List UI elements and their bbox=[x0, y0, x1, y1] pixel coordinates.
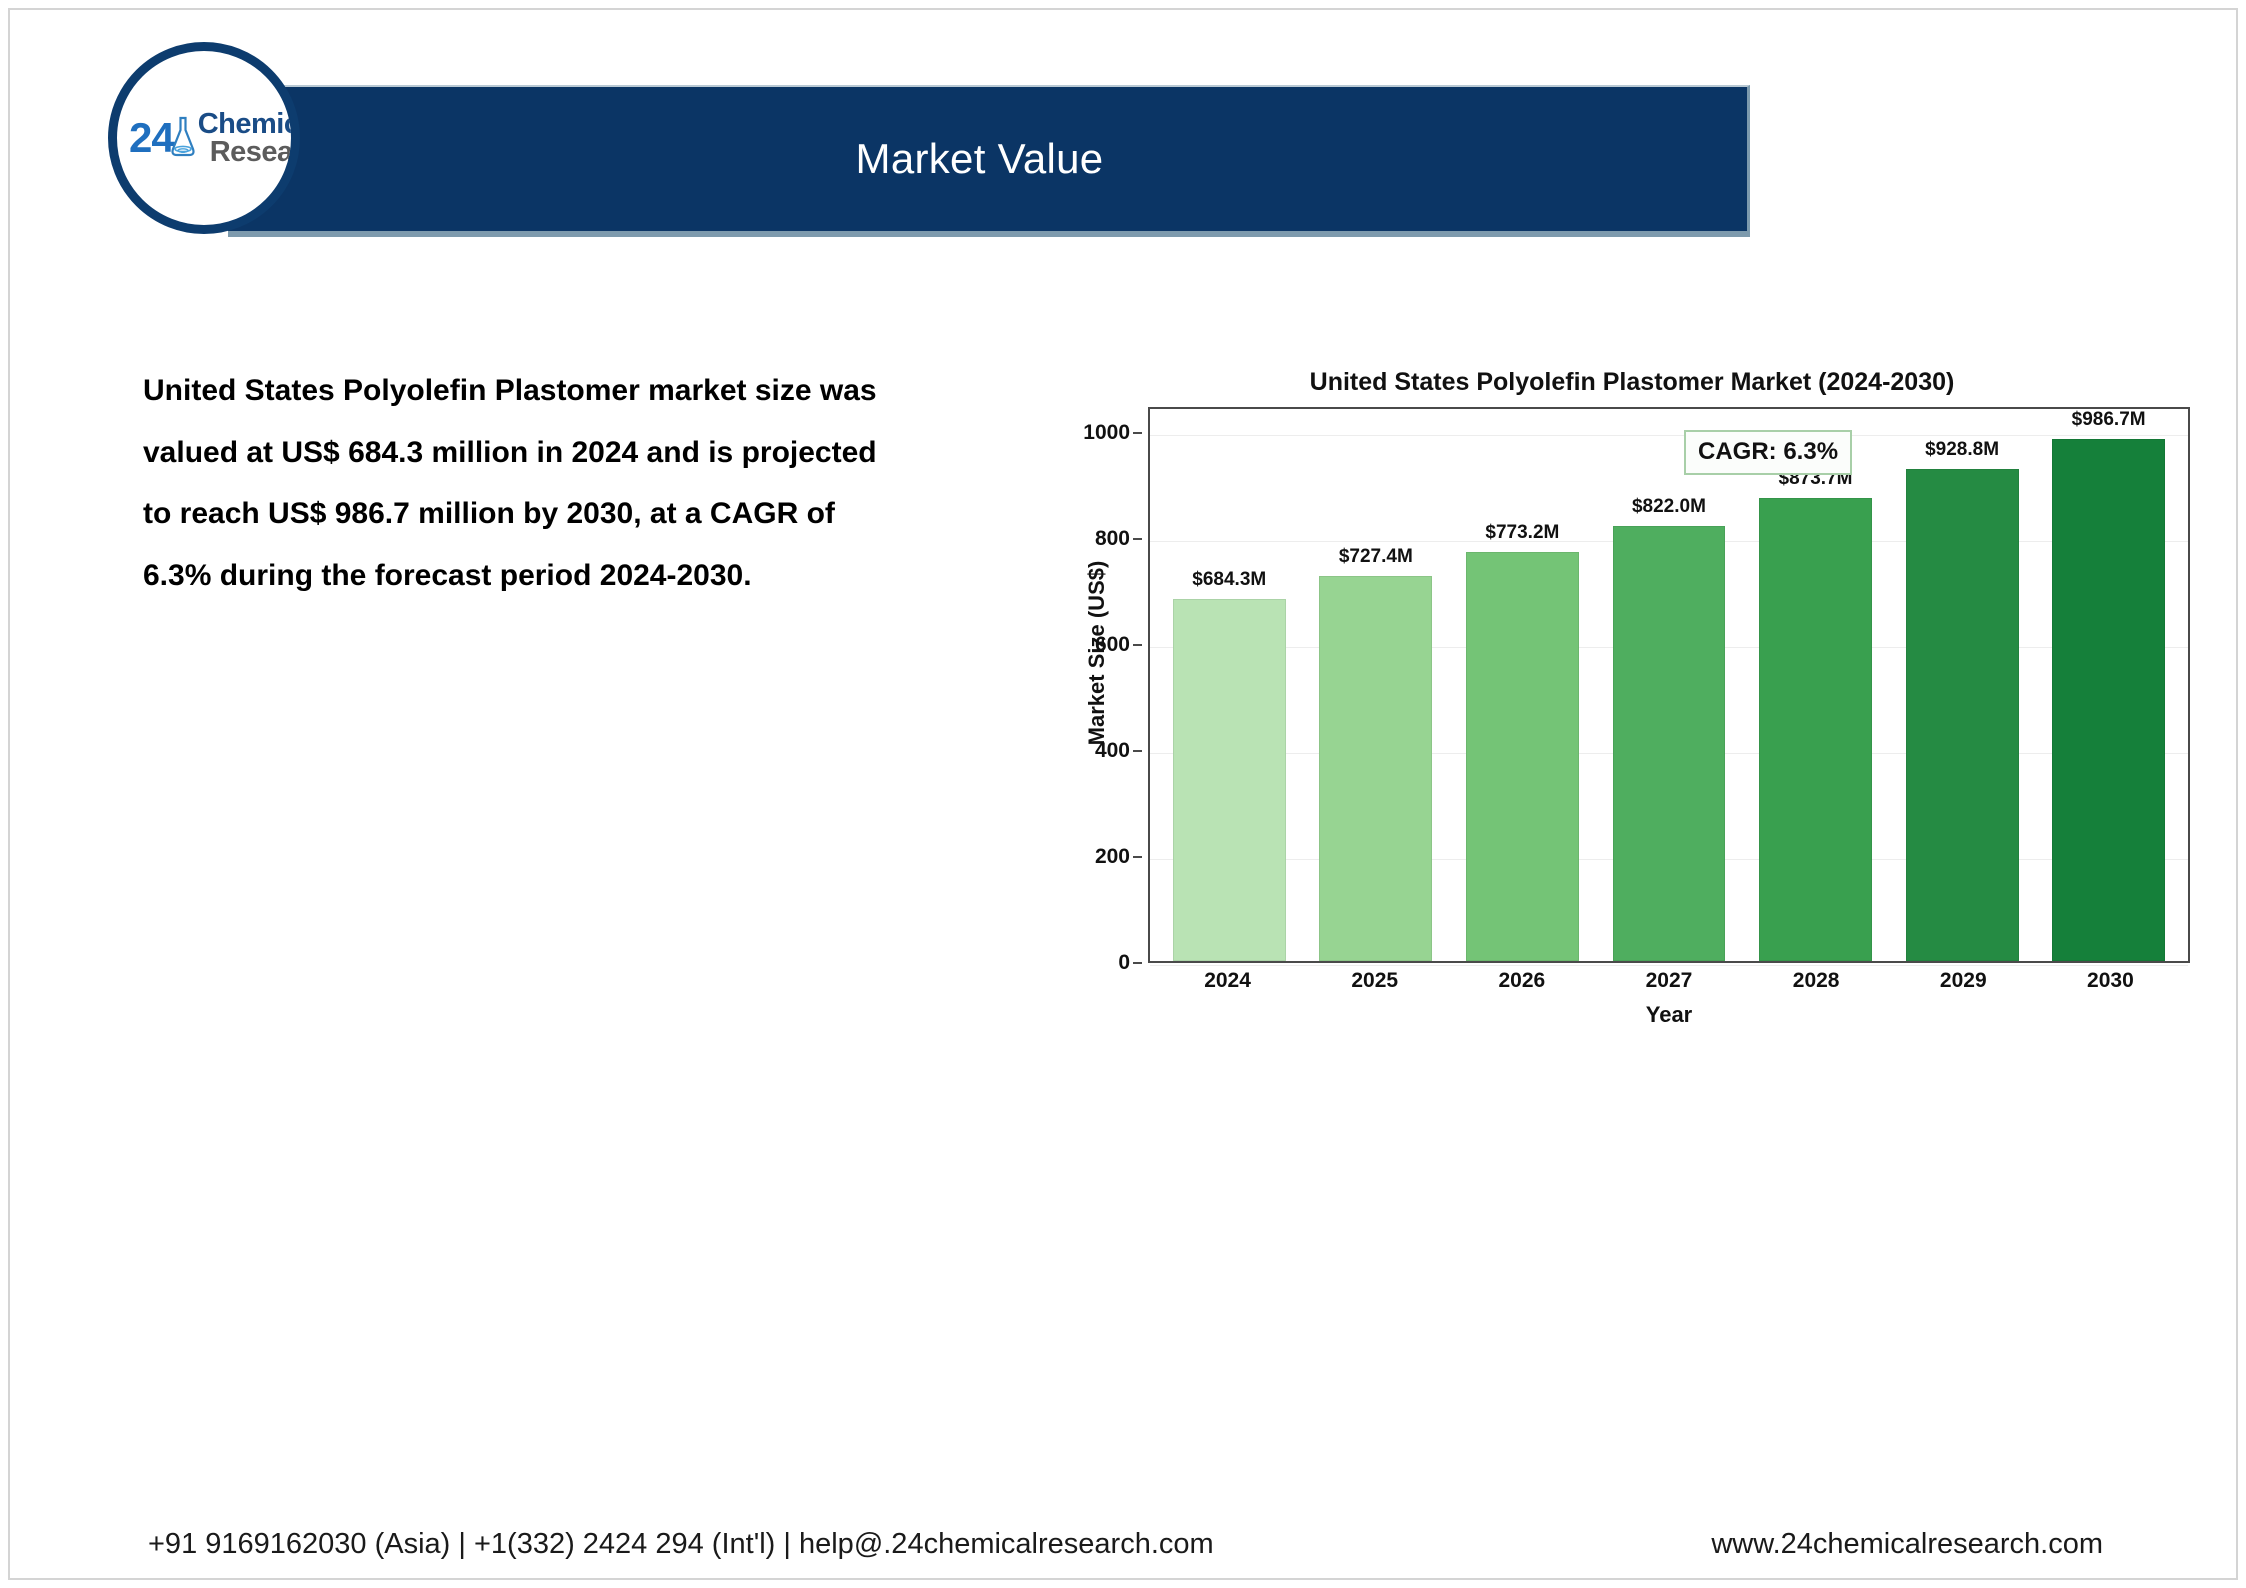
y-axis-tick-mark bbox=[1133, 644, 1142, 646]
brand-logo: 24 Chemical Research bbox=[108, 42, 300, 234]
bar-rect[interactable] bbox=[2052, 439, 2165, 961]
x-axis-tick-label: 2026 bbox=[1465, 969, 1578, 1003]
bar-rect[interactable] bbox=[1759, 498, 1872, 961]
chart-title: United States Polyolefin Plastomer Marke… bbox=[1062, 368, 2202, 397]
logo-number: 24 bbox=[129, 117, 174, 159]
x-axis-tick-label: 2024 bbox=[1171, 969, 1284, 1003]
x-axis-ticks: 2024202520262027202820292030 bbox=[1148, 969, 2190, 1003]
bar-rect[interactable] bbox=[1906, 469, 2019, 961]
bar-item[interactable]: $727.4M bbox=[1319, 409, 1432, 961]
bar-value-label: $928.8M bbox=[1862, 439, 2062, 461]
footer-website: www.24chemicalresearch.com bbox=[1711, 1528, 2103, 1561]
market-summary-text: United States Polyolefin Plastomer marke… bbox=[143, 360, 903, 606]
bar-rect[interactable] bbox=[1466, 552, 1579, 961]
x-axis-tick-label: 2029 bbox=[1907, 969, 2020, 1003]
y-axis-tick-mark bbox=[1133, 962, 1142, 964]
bar-value-label: $727.4M bbox=[1276, 546, 1476, 568]
page-title: Market Value bbox=[856, 135, 1104, 183]
logo-wordmark: Chemical Research bbox=[198, 110, 300, 167]
cagr-annotation: CAGR: 6.3% bbox=[1684, 430, 1852, 475]
bar-value-label: $986.7M bbox=[2009, 409, 2209, 431]
logo-inner: 24 Chemical Research bbox=[117, 110, 291, 167]
y-axis-tick-mark bbox=[1133, 432, 1142, 434]
bar-item[interactable]: $873.7M bbox=[1759, 409, 1872, 961]
bar-rect[interactable] bbox=[1613, 526, 1726, 961]
y-axis-tick-mark bbox=[1133, 750, 1142, 752]
bar-item[interactable]: $986.7M bbox=[2052, 409, 2165, 961]
y-axis-tick-mark bbox=[1133, 538, 1142, 540]
y-axis-tick-label: 0 bbox=[1118, 951, 1130, 975]
bar-rect[interactable] bbox=[1319, 576, 1432, 961]
bar-item[interactable]: $822.0M bbox=[1613, 409, 1726, 961]
plot-area: $684.3M$727.4M$773.2M$822.0M$873.7M$928.… bbox=[1148, 407, 2190, 963]
bar-series: $684.3M$727.4M$773.2M$822.0M$873.7M$928.… bbox=[1150, 409, 2188, 961]
logo-word-secondary: Research bbox=[210, 138, 300, 166]
logo-word-primary: Chemical bbox=[198, 110, 300, 138]
header-banner: Market Value bbox=[228, 85, 1750, 237]
x-axis-tick-label: 2030 bbox=[2054, 969, 2167, 1003]
flask-icon bbox=[170, 116, 196, 160]
x-axis-tick-label: 2028 bbox=[1759, 969, 1872, 1003]
bar-value-label: $684.3M bbox=[1129, 569, 1329, 591]
slide-canvas: Market Value 24 Chemical Research United… bbox=[0, 0, 2246, 1588]
footer-contact: +91 9169162030 (Asia) | +1(332) 2424 294… bbox=[148, 1528, 1214, 1561]
bar-value-label: $773.2M bbox=[1422, 522, 1622, 544]
bar-item[interactable]: $928.8M bbox=[1906, 409, 2019, 961]
x-axis-label: Year bbox=[1148, 1002, 2190, 1028]
y-axis-tick-mark bbox=[1133, 856, 1142, 858]
bar-value-label: $822.0M bbox=[1569, 496, 1769, 518]
market-size-bar-chart: United States Polyolefin Plastomer Marke… bbox=[1062, 368, 2202, 1013]
y-axis-label: Market Size (US$) bbox=[1084, 393, 1110, 913]
bar-rect[interactable] bbox=[1173, 599, 1286, 961]
bar-item[interactable]: $773.2M bbox=[1466, 409, 1579, 961]
x-axis-tick-label: 2025 bbox=[1318, 969, 1431, 1003]
gridline bbox=[1150, 965, 2188, 966]
bar-item[interactable]: $684.3M bbox=[1173, 409, 1286, 961]
x-axis-tick-label: 2027 bbox=[1612, 969, 1725, 1003]
